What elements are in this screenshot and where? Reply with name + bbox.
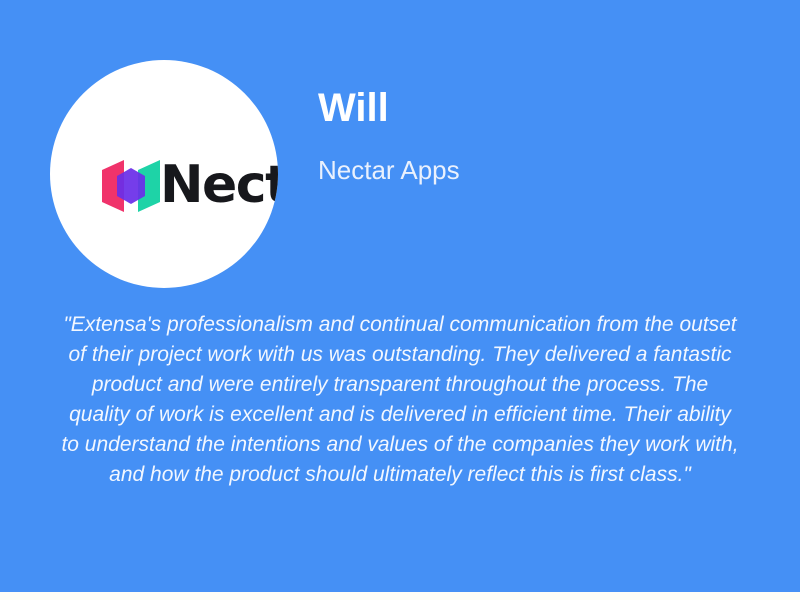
nectar-wordmark: Nectar — [160, 154, 278, 216]
nectar-logo-lockup: Nectar — [52, 154, 278, 216]
reviewer-name: Will — [318, 84, 758, 132]
testimonial-header: Nectar Will Nectar Apps — [0, 0, 800, 300]
nectar-logo-mark-icon — [100, 158, 162, 214]
reviewer-company: Nectar Apps — [318, 132, 758, 186]
quote-block: "Extensa's professionalism and continual… — [60, 310, 740, 490]
identity-block: Will Nectar Apps — [318, 84, 758, 186]
page-footer-strip — [0, 592, 800, 600]
testimonial-quote: "Extensa's professionalism and continual… — [60, 310, 740, 490]
testimonial-card: Nectar Will Nectar Apps "Extensa's profe… — [0, 0, 800, 592]
avatar: Nectar — [50, 60, 278, 288]
